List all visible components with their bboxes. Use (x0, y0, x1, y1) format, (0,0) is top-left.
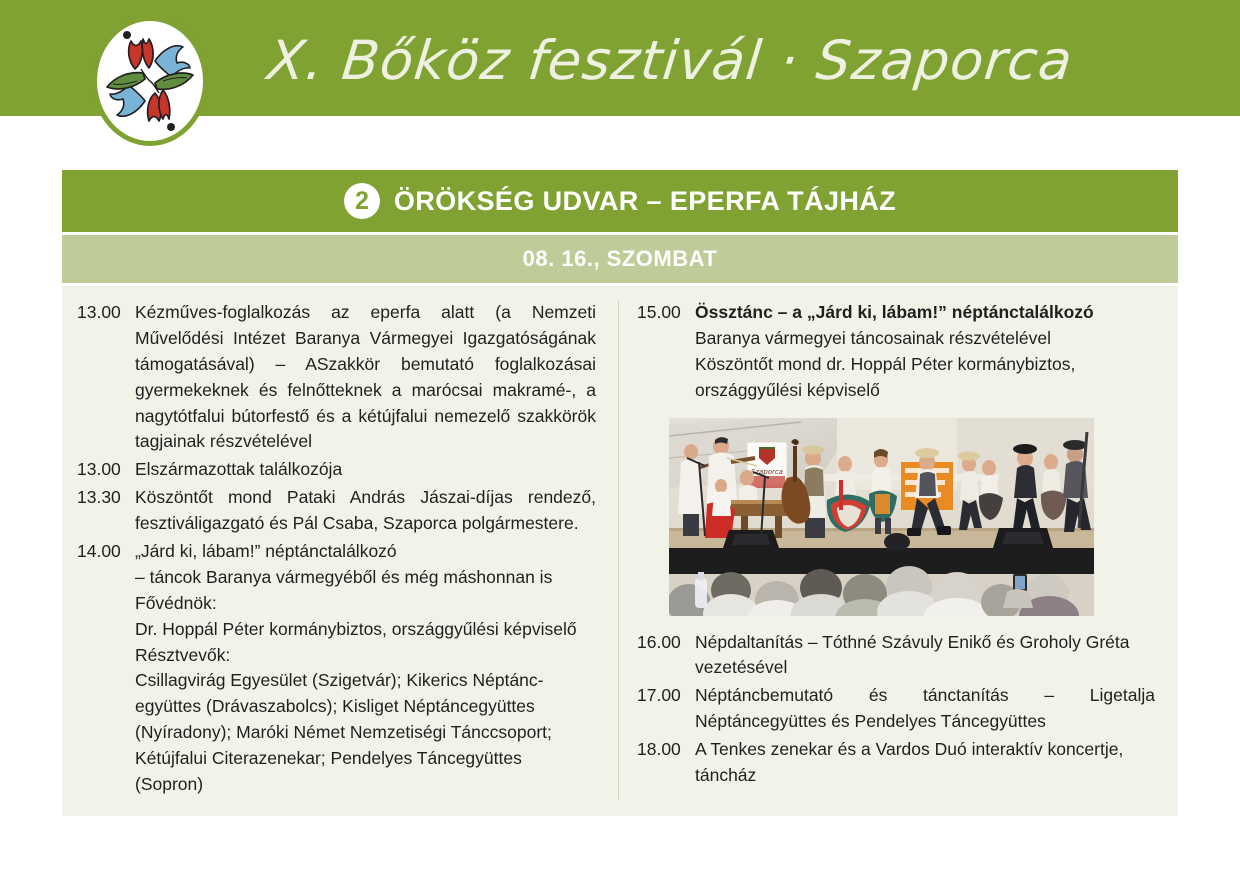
entry-line-bold: Össztánc – a „Járd ki, lábam!” néptáncta… (695, 300, 1155, 326)
section-header-bar: 2 ÖRÖKSÉG UDVAR – EPERFA TÁJHÁZ (62, 170, 1178, 232)
entry-line: Csillagvirág Egyesület (Szigetvár); Kike… (135, 668, 596, 694)
entry-line: Résztvevők: (135, 643, 596, 669)
program-column-right: 15.00 Össztánc – a „Járd ki, lábam!” nép… (619, 300, 1177, 800)
program-entry: 13.00 Elszármazottak találkozója (77, 457, 596, 483)
entry-time: 13.30 (77, 485, 135, 511)
entry-text: Elszármazottak találkozója (135, 457, 596, 483)
logo-circle (92, 16, 208, 146)
entry-text: A Tenkes zenekar és a Vardos Duó interak… (695, 737, 1155, 789)
program-column-left: 13.00 Kézműves-foglalkozás az eperfa ala… (62, 300, 619, 800)
program-entry: 13.00 Kézműves-foglalkozás az eperfa ala… (77, 300, 596, 455)
program-columns: 13.00 Kézműves-foglalkozás az eperfa ala… (62, 286, 1178, 816)
entry-line: együttes (Drávaszabolcs); Kisliget Néptá… (135, 694, 596, 720)
entry-line: (Sopron) (135, 772, 596, 798)
entry-time: 13.00 (77, 300, 135, 326)
entry-line: Dr. Hoppál Péter kormánybiztos, országgy… (135, 617, 596, 643)
date-bar: 08. 16., SZOMBAT (62, 235, 1178, 283)
photo-illustration: Szaporca (669, 418, 1094, 616)
entry-line: „Járd ki, lábam!” néptánctalálkozó (135, 539, 596, 565)
entry-line: országgyűlési képviselő (695, 378, 1155, 404)
section-title: ÖRÖKSÉG UDVAR – EPERFA TÁJHÁZ (394, 186, 896, 217)
entry-time: 14.00 (77, 539, 135, 565)
folk-dance-performance-photo: Szaporca (669, 418, 1094, 616)
entry-text: Népdaltanítás – Tóthné Szávuly Enikő és … (695, 630, 1155, 682)
date-label: 08. 16., SZOMBAT (523, 246, 718, 272)
entry-line: – táncok Baranya vármegyéből és még másh… (135, 565, 596, 591)
program-panel: 2 ÖRÖKSÉG UDVAR – EPERFA TÁJHÁZ 08. 16.,… (62, 170, 1178, 816)
entry-line: Kétújfalui Citerazenekar; Pendelyes Tánc… (135, 746, 596, 772)
entry-text: Köszöntőt mond Pataki András Jászai-díja… (135, 485, 596, 537)
entry-time: 18.00 (637, 737, 695, 763)
entry-line: Baranya vármegyei táncosainak részvételé… (695, 326, 1155, 352)
program-entry: 15.00 Össztánc – a „Járd ki, lábam!” nép… (637, 300, 1155, 404)
entry-time: 15.00 (637, 300, 695, 326)
section-number-badge: 2 (344, 183, 380, 219)
entry-text: Kézműves-foglalkozás az eperfa alatt (a … (135, 300, 596, 455)
entry-line: (Nyíradony); Maróki Német Nemzetiségi Tá… (135, 720, 596, 746)
program-entry: 16.00 Népdaltanítás – Tóthné Szávuly Eni… (637, 630, 1155, 682)
program-entry: 14.00 „Járd ki, lábam!” néptánctalálkozó… (77, 539, 596, 798)
entry-time: 13.00 (77, 457, 135, 483)
entry-line: Köszöntőt mond dr. Hoppál Péter kormányb… (695, 352, 1155, 378)
entry-time: 17.00 (637, 683, 695, 709)
festival-logo (92, 16, 208, 146)
folk-floral-motif-icon (97, 21, 203, 141)
entry-text: Néptáncbemutató és tánctanítás – Ligetal… (695, 683, 1155, 735)
program-entry: 13.30 Köszöntőt mond Pataki András Jásza… (77, 485, 596, 537)
program-entry: 17.00 Néptáncbemutató és tánctanítás – L… (637, 683, 1155, 735)
entry-text-block: „Járd ki, lábam!” néptánctalálkozó – tán… (135, 539, 596, 798)
festival-title: X. Bőköz fesztivál · Szaporca (264, 20, 1077, 100)
program-entry: 18.00 A Tenkes zenekar és a Vardos Duó i… (637, 737, 1155, 789)
entry-text-block: Össztánc – a „Járd ki, lábam!” néptáncta… (695, 300, 1155, 404)
entry-line: Fővédnök: (135, 591, 596, 617)
entry-time: 16.00 (637, 630, 695, 656)
